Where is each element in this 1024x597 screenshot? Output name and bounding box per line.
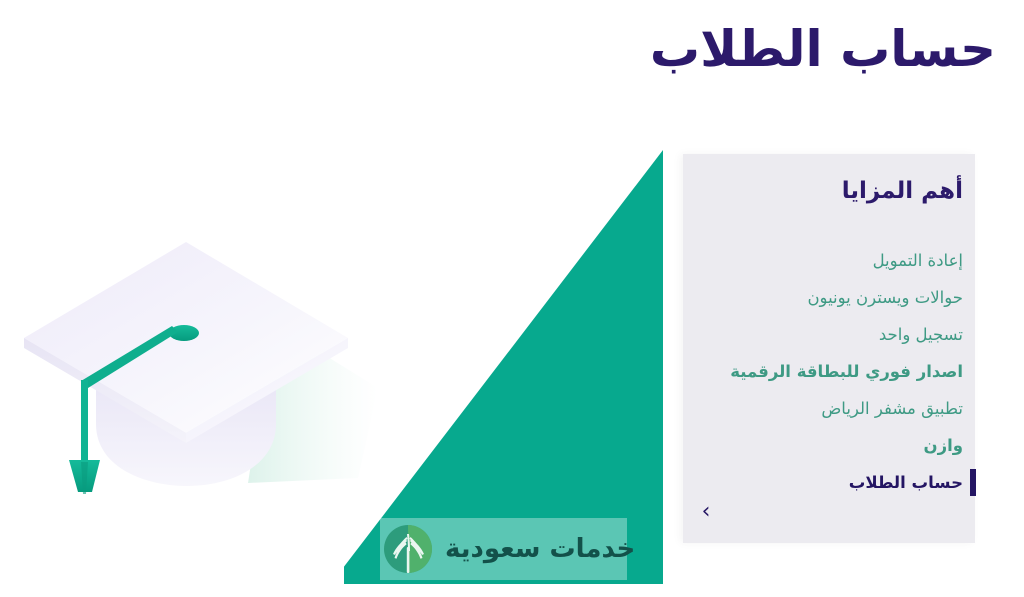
page-title: حساب الطلاب [376, 18, 996, 81]
menu-item-label: حساب الطلاب [849, 464, 963, 501]
menu-item-label: تطبيق مشفر الرياض [821, 390, 963, 427]
menu-item-wazen[interactable]: وازن [683, 427, 975, 464]
menu-item-instant-digital-card[interactable]: اصدار فوري للبطاقة الرقمية [683, 353, 975, 390]
menu-item-single-registration[interactable]: تسجيل واحد [683, 316, 975, 353]
watermark-banner: خدمات سعودية [380, 518, 627, 580]
menu-item-label: اصدار فوري للبطاقة الرقمية [730, 353, 963, 390]
panel-heading: أهم المزايا [701, 178, 963, 204]
palm-tree-circle-logo [380, 521, 436, 577]
menu-item-refinancing[interactable]: إعادة التمويل [683, 242, 975, 279]
active-indicator-bar [970, 469, 976, 496]
graduation-cap-illustration [18, 228, 398, 518]
features-side-panel: أهم المزايا إعادة التمويل حوالات ويسترن … [683, 154, 975, 543]
menu-item-students-account[interactable]: حساب الطلاب [683, 464, 975, 501]
menu-item-western-union[interactable]: حوالات ويسترن يونيون [683, 279, 975, 316]
menu-item-label: إعادة التمويل [873, 242, 963, 279]
features-menu-list: إعادة التمويل حوالات ويسترن يونيون تسجيل… [683, 242, 975, 501]
watermark-text: خدمات سعودية [445, 534, 635, 564]
chevron-left-icon[interactable]: ‹ [695, 502, 717, 524]
menu-item-label: تسجيل واحد [879, 316, 963, 353]
menu-item-riyadh-encrypted-app[interactable]: تطبيق مشفر الرياض [683, 390, 975, 427]
menu-item-label: حوالات ويسترن يونيون [807, 279, 963, 316]
page-root: حساب الطلاب [0, 0, 1024, 597]
menu-item-label: وازن [924, 427, 964, 464]
